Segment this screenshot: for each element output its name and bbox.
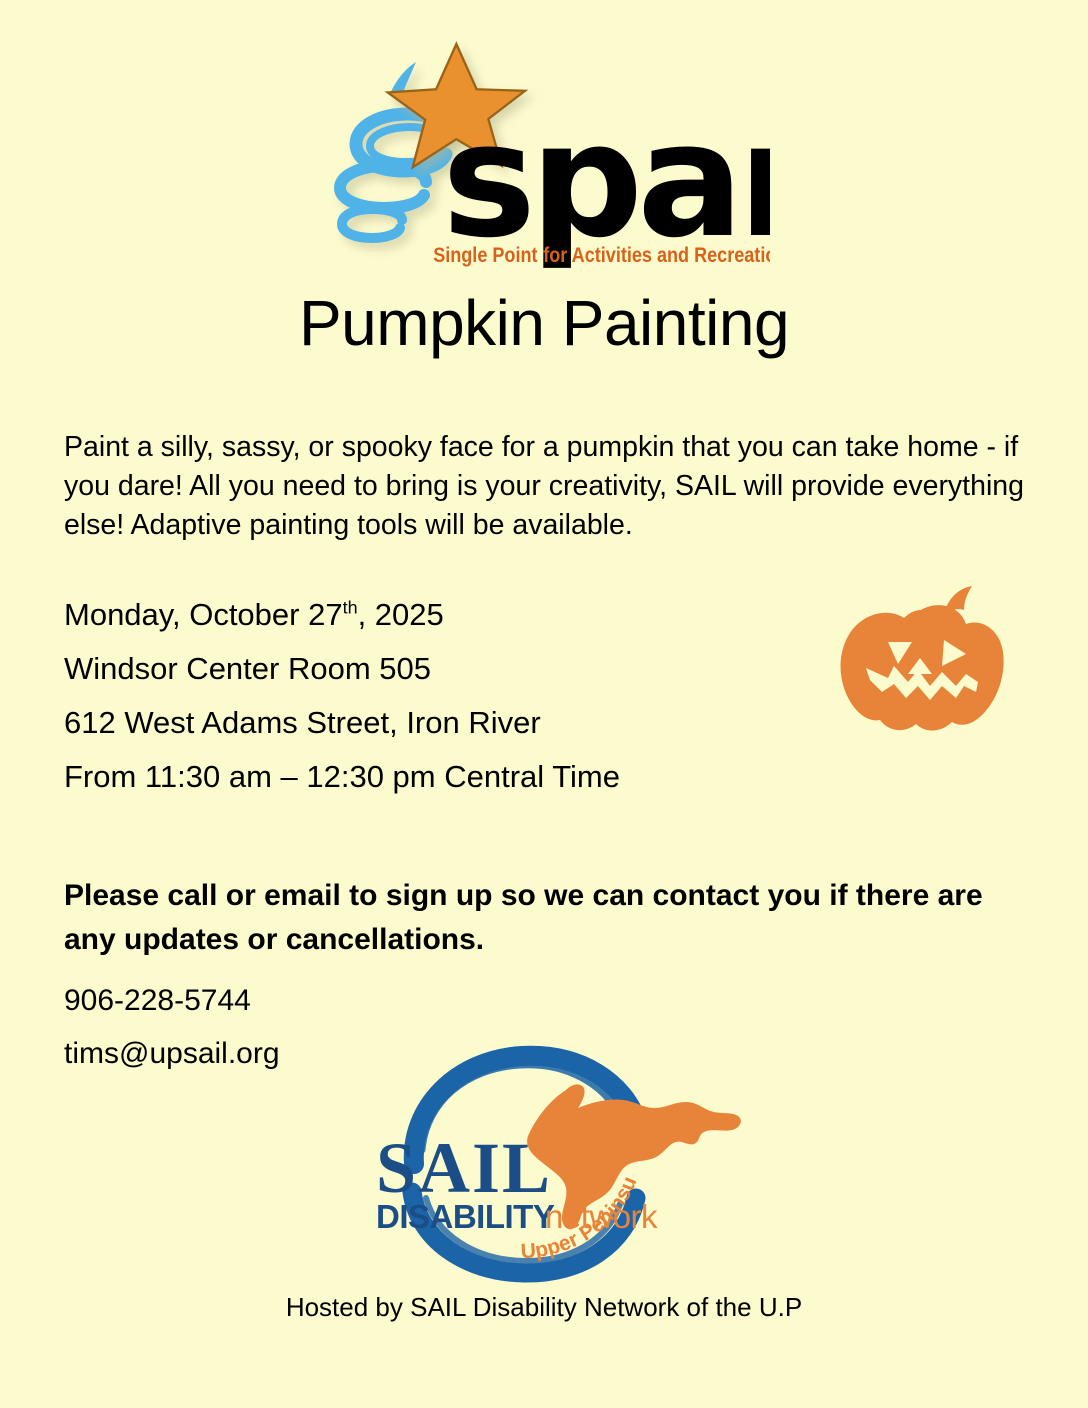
page-title: Pumpkin Painting [0,288,1088,358]
spar-logo: spar Single Point for Activities and Rec… [330,30,770,280]
spar-tagline-part2: for Activities and Recreation [543,244,770,268]
footer-text: Hosted by SAIL Disability Network of the… [0,1292,1088,1323]
event-date-prefix: Monday, October 27 [64,597,343,632]
sail-subwordmark-blue: DISABILITY [376,1198,555,1235]
flyer-page: spar Single Point for Activities and Rec… [0,0,1088,1408]
event-time: From 11:30 am – 12:30 pm Central Time [64,750,804,804]
spar-tagline-part1: Single Point [433,244,538,268]
intro-paragraph: Paint a silly, sassy, or spooky face for… [64,428,1039,545]
event-date-ordinal: th [343,598,358,618]
event-date: Monday, October 27th, 2025 [64,588,804,642]
event-date-suffix: , 2025 [358,597,444,632]
sail-logo: SAIL DISABILITY network Upper Peninsula [352,1032,752,1294]
event-details: Monday, October 27th, 2025 Windsor Cente… [64,588,804,804]
event-address: 612 West Adams Street, Iron River [64,696,804,750]
signup-callout: Please call or email to sign up so we ca… [64,874,1009,962]
jack-o-lantern-icon [826,582,1016,742]
contact-phone[interactable]: 906-228-5744 [64,974,564,1027]
event-venue: Windsor Center Room 505 [64,642,804,696]
sail-wordmark: SAIL [376,1128,552,1208]
